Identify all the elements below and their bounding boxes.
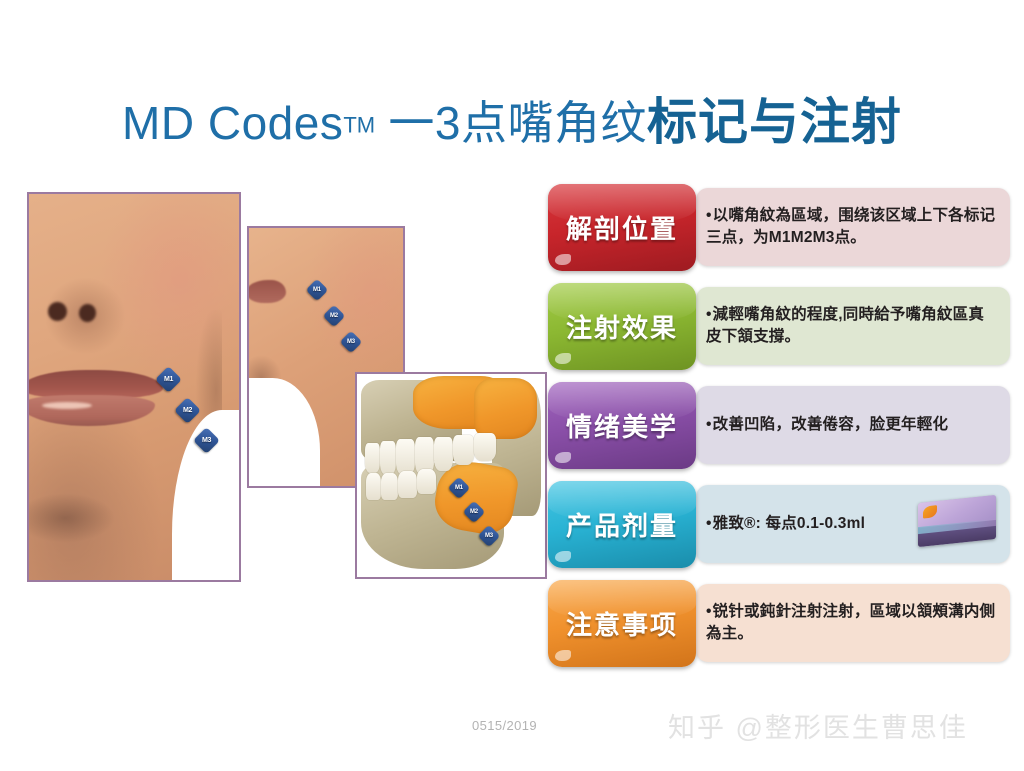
tooth [381,473,398,499]
tab-precautions[interactable]: 注意事项 [548,580,696,667]
tab-label: 情绪美学 [566,407,678,444]
body-product-dose: •雅致®: 每点0.1-0.3ml [696,485,1010,563]
bullet-icon: • [706,306,712,323]
bullet-icon: • [706,603,712,620]
tab-injection-effect[interactable]: 注射效果 [548,283,696,370]
tooth [366,473,381,499]
tab-emotional-aesthetics[interactable]: 情绪美学 [548,382,696,469]
info-rows: 解剖位置 •以嘴角紋為區域，围绕该区域上下各标记三点，为M1M2M3点。 注射效… [540,180,1010,675]
upper-fat-compartment-2 [474,378,538,439]
profile-backdrop [247,378,320,488]
info-row-injection-effect: 注射效果 •減輕嘴角紋的程度,同時給予嘴角紋區真皮下頷支撐。 [540,279,1010,378]
bullet-icon: • [706,416,712,433]
tooth [398,471,417,497]
body-injection-effect: •減輕嘴角紋的程度,同時給予嘴角紋區真皮下頷支撐。 [696,287,1010,365]
jaw-shadow [27,487,134,549]
info-row-anatomy: 解剖位置 •以嘴角紋為區域，围绕该区域上下各标记三点，为M1M2M3点。 [540,180,1010,279]
body-copy: 雅致®: 每点0.1-0.3ml [713,515,865,532]
frontal-face-photo: M1 M2 M3 [27,192,241,582]
body-text: •減輕嘴角紋的程度,同時給予嘴角紋區真皮下頷支撐。 [706,304,996,349]
tab-label: 注意事项 [566,605,678,642]
photo-cluster: M1 M2 M3 M1 M2 M3 M1 M2 [0,0,560,771]
tooth [380,441,397,476]
body-copy: 改善凹陷，改善倦容，脸更年輕化 [713,416,949,433]
face-skin [29,194,239,580]
body-copy: 锐针或鈍針注射注射，區域以頷頰溝内側為主。 [706,603,995,642]
body-text: •锐针或鈍針注射注射，區域以頷頰溝内側為主。 [706,601,996,646]
anatomy-skull-illustration: M1 M2 M3 [355,372,547,579]
body-copy: 以嘴角紋為區域，围绕该区域上下各标记三点，为M1M2M3点。 [706,207,995,246]
body-anatomical-position: •以嘴角紋為區域，围绕该区域上下各标记三点，为M1M2M3点。 [696,188,1010,266]
body-precautions: •锐针或鈍針注射注射，區域以頷頰溝内側為主。 [696,584,1010,662]
tooth [453,435,474,465]
slide-date: 0515/2019 [472,718,537,733]
lower-lip [27,395,155,426]
tab-label: 产品剂量 [566,506,678,543]
tab-anatomical-position[interactable]: 解剖位置 [548,184,696,271]
body-copy: 減輕嘴角紋的程度,同時給予嘴角紋區真皮下頷支撐。 [706,306,984,345]
title-emphasis: 标记与注射 [647,94,902,150]
watermark: 知乎 @整形医生曹思佳 [668,706,968,745]
tooth [396,439,415,476]
body-text: •雅致®: 每点0.1-0.3ml [706,513,865,535]
filler-product-box [918,495,996,547]
bullet-icon: • [706,515,712,532]
tab-label: 注射效果 [566,308,678,345]
tab-label: 解剖位置 [566,209,678,246]
tooth [434,437,453,472]
tooth [365,443,380,473]
info-row-precautions: 注意事项 •锐针或鈍針注射注射，區域以頷頰溝内側為主。 [540,576,1010,675]
tooth [417,469,436,493]
body-text: •以嘴角紋為區域，围绕该区域上下各标记三点，为M1M2M3点。 [706,205,996,250]
info-row-emotional-aesthetics: 情绪美学 •改善凹陷，改善倦容，脸更年輕化 [540,378,1010,477]
tooth [474,433,497,461]
body-text: •改善凹陷，改善倦容，脸更年輕化 [706,414,948,436]
tab-product-dose[interactable]: 产品剂量 [548,481,696,568]
profile-lip [247,280,286,303]
bullet-icon: • [706,207,712,224]
body-emotional-aesthetics: •改善凹陷，改善倦容，脸更年輕化 [696,386,1010,464]
info-row-product-dose: 产品剂量 •雅致®: 每点0.1-0.3ml [540,477,1010,576]
